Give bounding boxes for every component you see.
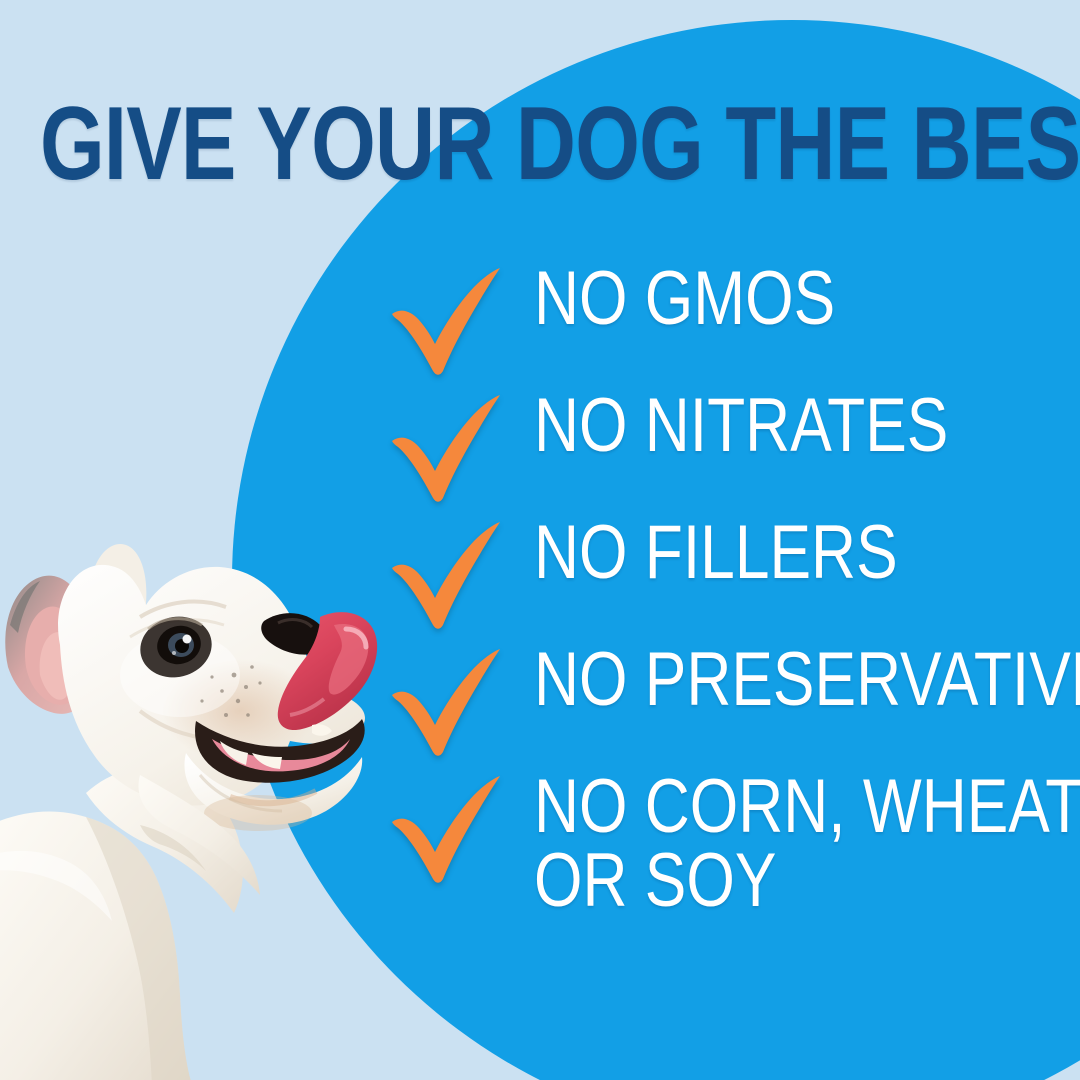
check-icon — [388, 395, 516, 503]
list-item: NO CORN, WHEAT, OR SOY — [388, 770, 1078, 940]
list-item: NO GMOS — [388, 262, 1078, 389]
list-item: NO FILLERS — [388, 516, 1078, 643]
benefits-checklist: NO GMOS NO NITRATES NO FILLERS — [388, 262, 1078, 940]
list-item: NO PRESERVATIVES — [388, 643, 1078, 770]
french-bulldog-photo — [0, 525, 390, 1080]
list-item-label: NO GMOS — [534, 262, 835, 336]
promo-poster: GIVE YOUR DOG THE BEST! NO GMOS NO NITRA… — [0, 0, 1080, 1080]
check-icon — [388, 522, 516, 630]
list-item-label: NO CORN, WHEAT, OR SOY — [534, 770, 1080, 918]
check-icon — [388, 649, 516, 757]
check-icon — [388, 268, 516, 376]
check-icon — [388, 776, 516, 884]
list-item-label: NO FILLERS — [534, 516, 898, 590]
page-title: GIVE YOUR DOG THE BEST! — [40, 92, 848, 196]
list-item-label: NO NITRATES — [534, 389, 948, 463]
list-item: NO NITRATES — [388, 389, 1078, 516]
list-item-label: NO PRESERVATIVES — [534, 643, 1080, 717]
